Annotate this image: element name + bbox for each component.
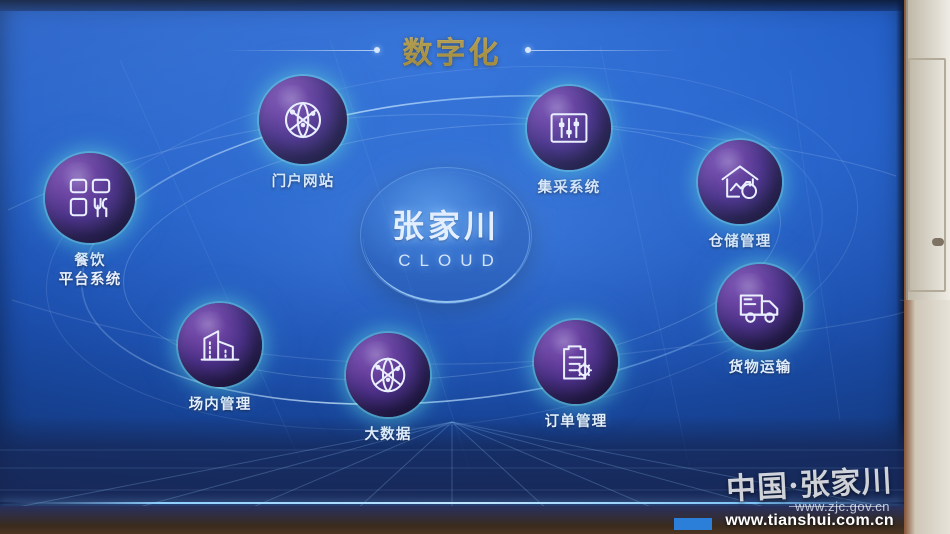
node-label: 货物运输 <box>712 359 808 378</box>
node-label: 门户网站 <box>255 173 351 192</box>
node-warehouse-management[interactable]: 仓储管理 <box>692 140 788 252</box>
watermark: 中国·张家川 www.zjc.gov.cn www.tianshui.com.c… <box>678 454 898 530</box>
door-handle <box>932 238 944 246</box>
node-label: 场内管理 <box>172 396 268 415</box>
node-bubble[interactable] <box>178 303 262 387</box>
center-name-cn: 张家川 <box>392 201 500 247</box>
warehouse-house-icon <box>718 160 762 204</box>
node-bubble[interactable] <box>534 320 618 404</box>
grid-utensils-icon <box>67 175 113 221</box>
node-bubble[interactable] <box>717 264 803 350</box>
screenshot-root: 数字化 张家川 CLOUD 餐饮 平台系统 <box>0 0 950 534</box>
sliders-panel-icon <box>547 106 591 150</box>
buildings-icon <box>198 323 242 367</box>
clipboard-gear-icon <box>554 340 598 384</box>
node-bubble[interactable] <box>527 86 611 170</box>
node-freight-transport[interactable]: 货物运输 <box>712 264 808 378</box>
node-order-management[interactable]: 订单管理 <box>528 320 624 432</box>
title-dot-right-icon <box>525 47 531 53</box>
watermark-color-chip <box>674 518 712 530</box>
door-panel-inset <box>908 58 946 292</box>
node-label: 订单管理 <box>528 413 624 432</box>
node-label: 仓储管理 <box>692 233 788 252</box>
globe-network-icon <box>279 96 327 144</box>
center-core-text: 张家川 CLOUD <box>360 167 532 304</box>
projection-screen: 数字化 张家川 CLOUD 餐饮 平台系统 <box>0 0 904 534</box>
title-rule-left <box>227 50 377 51</box>
node-bubble[interactable] <box>698 140 782 224</box>
page-title: 数字化 <box>403 28 502 72</box>
node-onsite-management[interactable]: 场内管理 <box>172 303 268 415</box>
node-label: 餐饮 平台系统 <box>40 252 140 289</box>
node-bubble[interactable] <box>45 153 135 243</box>
node-bubble[interactable] <box>259 76 347 164</box>
watermark-url-secondary: www.tianshui.com.cn <box>725 512 894 530</box>
title-rule-right <box>528 50 678 51</box>
node-label: 集采系统 <box>521 179 617 198</box>
center-core-sphere: 张家川 CLOUD <box>360 167 532 304</box>
node-procurement-system[interactable]: 集采系统 <box>521 86 617 198</box>
node-portal-website[interactable]: 门户网站 <box>255 76 351 192</box>
center-name-en: CLOUD <box>389 251 503 271</box>
node-catering-platform-system[interactable]: 餐饮 平台系统 <box>40 153 140 289</box>
node-bubble[interactable] <box>346 333 430 417</box>
node-big-data[interactable]: 大数据 <box>340 333 436 445</box>
globe-network-icon <box>365 352 411 398</box>
slide-title-row: 数字化 <box>0 28 904 72</box>
title-dot-left-icon <box>374 47 380 53</box>
node-label: 大数据 <box>340 426 436 445</box>
truck-icon <box>737 284 783 330</box>
